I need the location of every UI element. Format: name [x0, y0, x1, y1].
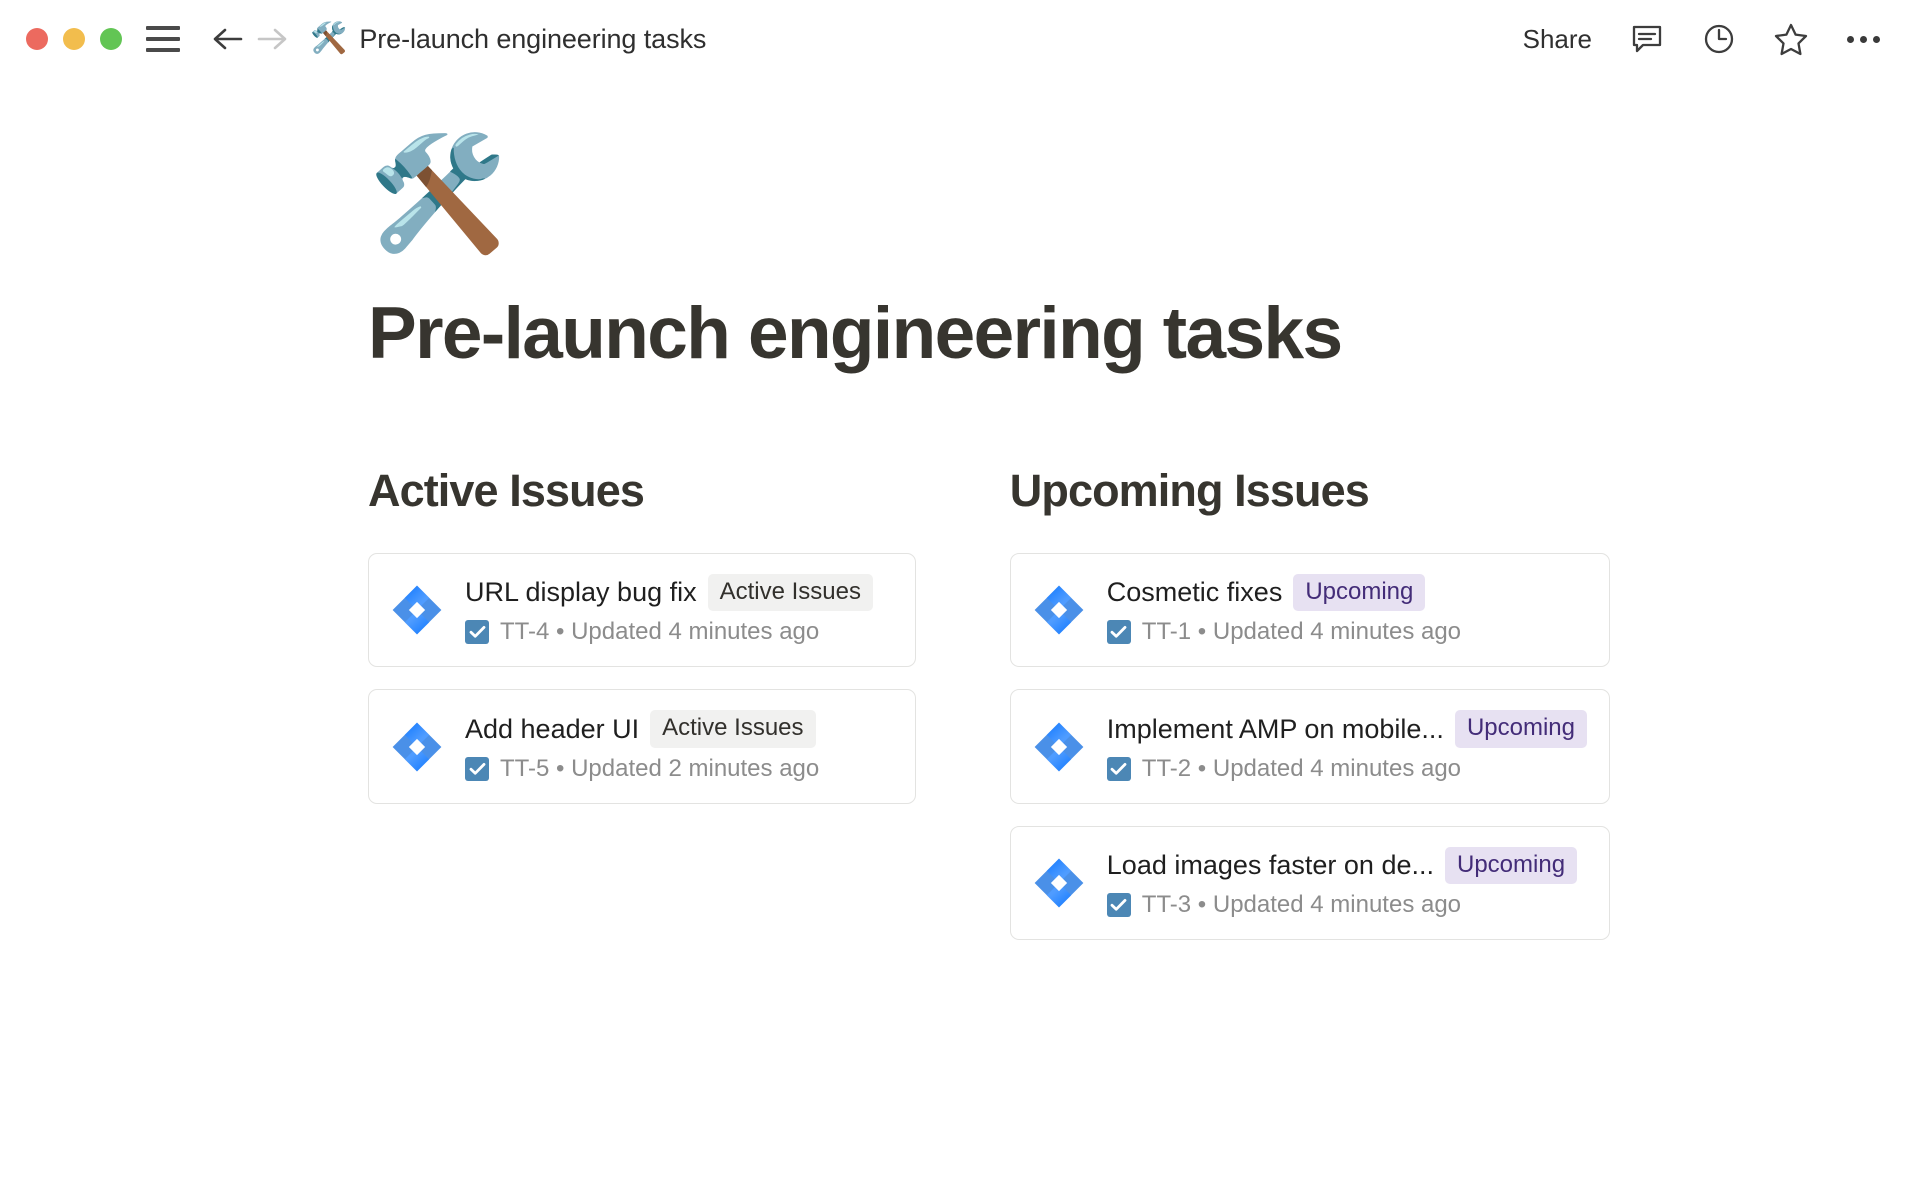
star-icon[interactable] — [1768, 16, 1814, 62]
issue-columns: Active Issues — [368, 465, 1610, 941]
issue-title: URL display bug fix — [465, 577, 697, 608]
status-badge: Upcoming — [1455, 710, 1587, 748]
issue-title: Load images faster on de... — [1107, 850, 1434, 881]
document-title: Pre-launch engineering tasks — [359, 24, 706, 55]
issue-card[interactable]: Cosmetic fixes Upcoming TT- — [1010, 553, 1610, 668]
issue-card-body: Load images faster on de... Upcoming — [1107, 847, 1587, 920]
issue-checkbox[interactable] — [1107, 757, 1131, 781]
titlebar: 🛠️ Pre-launch engineering tasks Share — [0, 0, 1920, 78]
section-heading-upcoming: Upcoming Issues — [1010, 465, 1610, 517]
share-button[interactable]: Share — [1517, 20, 1598, 59]
issue-meta: TT-4 • Updated 4 minutes ago — [500, 618, 819, 646]
issue-checkbox[interactable] — [465, 620, 489, 644]
issue-title: Cosmetic fixes — [1107, 577, 1283, 608]
back-arrow-icon[interactable] — [206, 17, 250, 61]
issue-card-body: Cosmetic fixes Upcoming TT- — [1107, 574, 1587, 647]
issue-card[interactable]: Add header UI Active Issues — [368, 689, 916, 804]
issue-card-header: Cosmetic fixes Upcoming — [1107, 574, 1587, 612]
issue-meta: TT-5 • Updated 2 minutes ago — [500, 755, 819, 783]
column-upcoming-issues: Upcoming Issues Cosmetic fi — [1010, 465, 1610, 941]
comment-icon[interactable] — [1624, 16, 1670, 62]
issue-checkbox[interactable] — [1107, 620, 1131, 644]
issue-card-meta-row: TT-3 • Updated 4 minutes ago — [1107, 891, 1587, 919]
issue-card-meta-row: TT-2 • Updated 4 minutes ago — [1107, 755, 1587, 783]
column-active-issues: Active Issues — [368, 465, 916, 941]
jira-icon — [391, 584, 443, 636]
issue-card-header: Implement AMP on mobile... Upcoming — [1107, 710, 1587, 748]
issue-checkbox[interactable] — [1107, 893, 1131, 917]
window-controls — [26, 28, 122, 50]
jira-icon — [391, 721, 443, 773]
issue-card-meta-row: TT-5 • Updated 2 minutes ago — [465, 755, 893, 783]
page-title[interactable]: Pre-launch engineering tasks — [368, 296, 1610, 373]
status-badge: Active Issues — [708, 574, 873, 612]
issue-card-body: URL display bug fix Active Issues — [465, 574, 893, 647]
issue-meta: TT-1 • Updated 4 minutes ago — [1142, 618, 1461, 646]
document-emoji-icon: 🛠️ — [310, 24, 347, 54]
page-emoji-icon[interactable]: 🛠️ — [368, 138, 1610, 250]
issue-card[interactable]: URL display bug fix Active Issues — [368, 553, 916, 668]
status-badge: Upcoming — [1293, 574, 1425, 612]
jira-icon — [1033, 857, 1085, 909]
card-list-active: URL display bug fix Active Issues — [368, 553, 916, 804]
more-options-icon[interactable] — [1840, 16, 1886, 62]
history-clock-icon[interactable] — [1696, 16, 1742, 62]
section-heading-active: Active Issues — [368, 465, 916, 517]
issue-card-body: Implement AMP on mobile... Upcoming — [1107, 710, 1587, 783]
issue-checkbox[interactable] — [465, 757, 489, 781]
issue-card-meta-row: TT-4 • Updated 4 minutes ago — [465, 618, 893, 646]
issue-card-header: Add header UI Active Issues — [465, 710, 893, 748]
app-window: 🛠️ Pre-launch engineering tasks Share — [0, 0, 1920, 1200]
issue-card-header: Load images faster on de... Upcoming — [1107, 847, 1587, 885]
menu-icon[interactable] — [146, 26, 180, 52]
issue-title: Add header UI — [465, 714, 639, 745]
issue-meta: TT-2 • Updated 4 minutes ago — [1142, 755, 1461, 783]
minimize-window-button[interactable] — [63, 28, 85, 50]
issue-meta: TT-3 • Updated 4 minutes ago — [1142, 891, 1461, 919]
status-badge: Active Issues — [650, 710, 815, 748]
page-content: 🛠️ Pre-launch engineering tasks Active I… — [0, 78, 1920, 940]
card-list-upcoming: Cosmetic fixes Upcoming TT- — [1010, 553, 1610, 941]
maximize-window-button[interactable] — [100, 28, 122, 50]
issue-title: Implement AMP on mobile... — [1107, 714, 1444, 745]
issue-card[interactable]: Implement AMP on mobile... Upcoming — [1010, 689, 1610, 804]
issue-card-body: Add header UI Active Issues — [465, 710, 893, 783]
issue-card-header: URL display bug fix Active Issues — [465, 574, 893, 612]
issue-card[interactable]: Load images faster on de... Upcoming — [1010, 826, 1610, 941]
jira-icon — [1033, 584, 1085, 636]
status-badge: Upcoming — [1445, 847, 1577, 885]
issue-card-meta-row: TT-1 • Updated 4 minutes ago — [1107, 618, 1587, 646]
titlebar-actions: Share — [1517, 16, 1886, 62]
forward-arrow-icon[interactable] — [250, 17, 294, 61]
jira-icon — [1033, 721, 1085, 773]
close-window-button[interactable] — [26, 28, 48, 50]
